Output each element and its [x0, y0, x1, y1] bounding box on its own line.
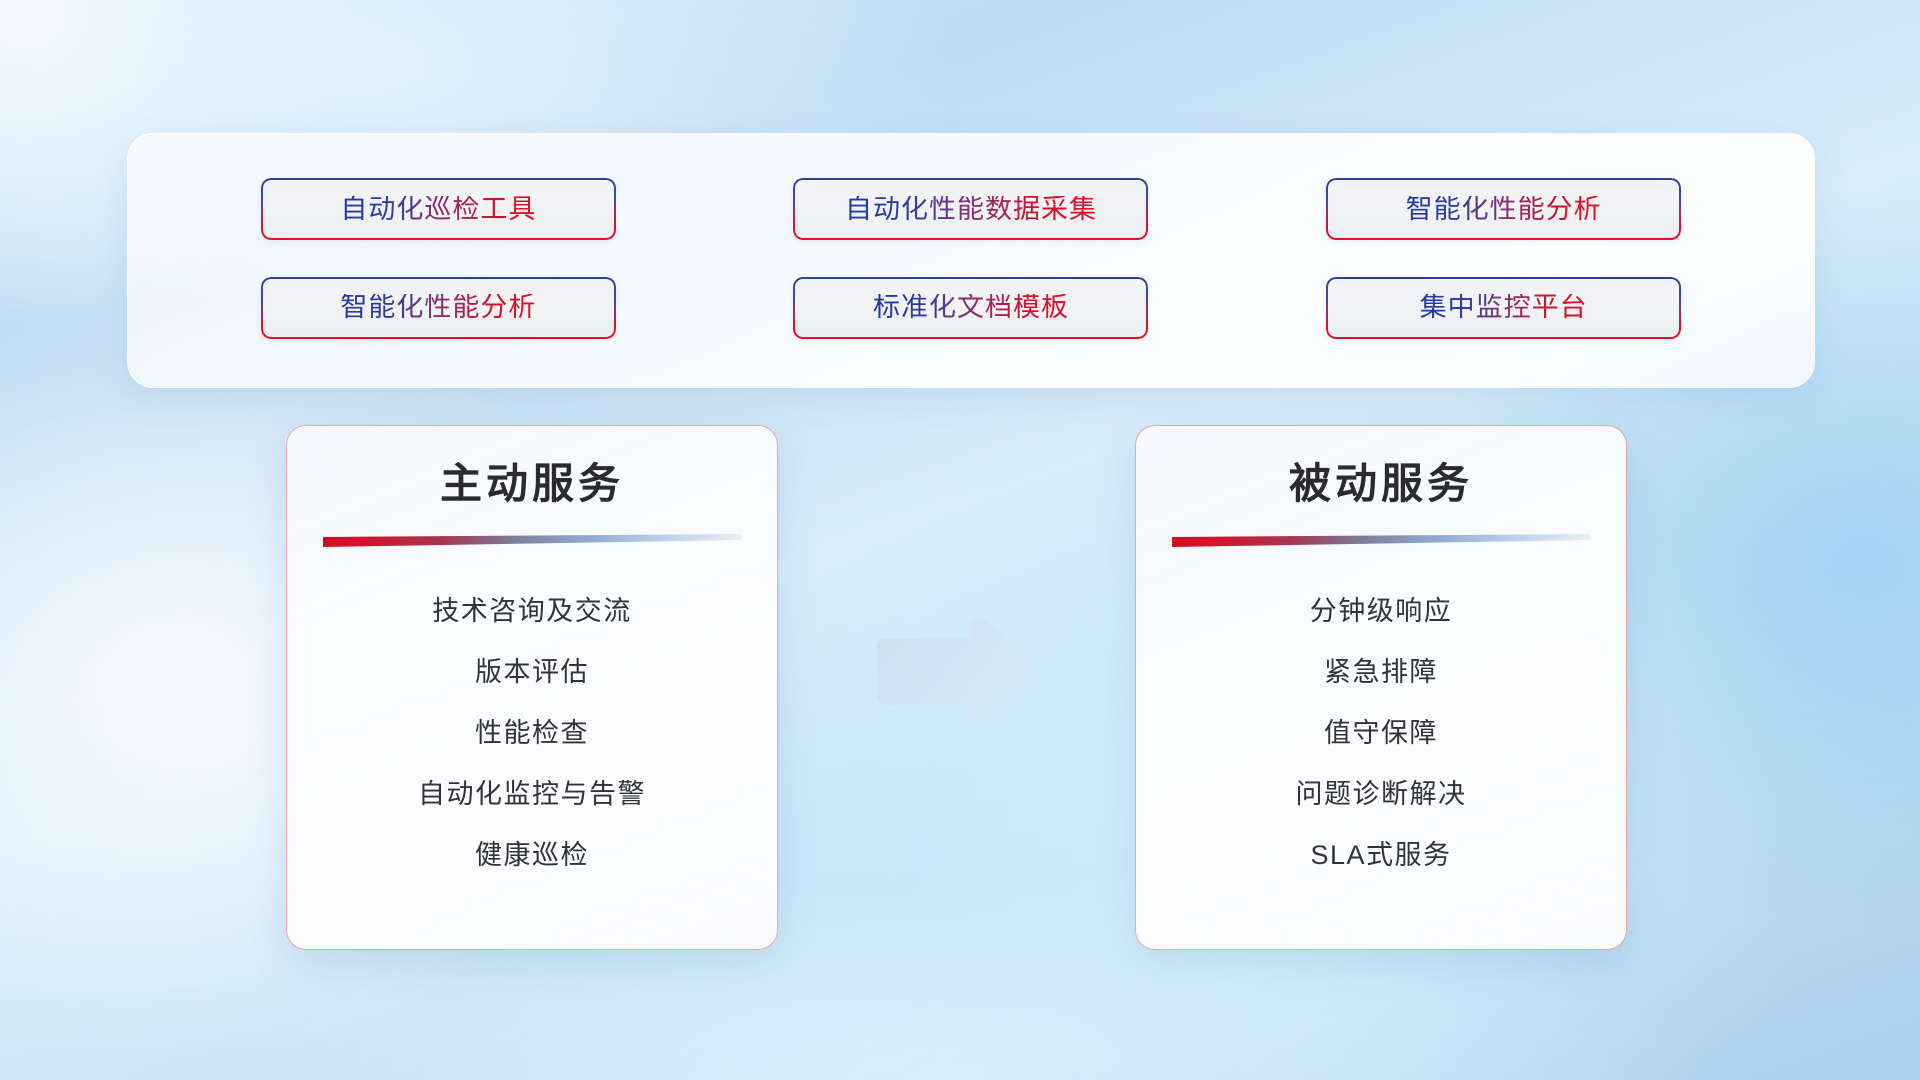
capability-chip-standardized-document-template[interactable]: 标准化文档模板	[793, 277, 1148, 339]
chip-label: 集中监控平台	[1420, 294, 1588, 321]
chip-label: 自动化性能数据采集	[845, 196, 1097, 223]
list-item: 问题诊断解决	[1166, 764, 1596, 825]
capability-chip-automated-performance-data-collection[interactable]: 自动化性能数据采集	[793, 178, 1148, 240]
card-title: 被动服务	[1166, 460, 1596, 507]
list-item: SLA式服务	[1166, 825, 1596, 886]
capability-chip-centralized-monitoring-platform[interactable]: 集中监控平台	[1326, 277, 1681, 339]
card-title: 主动服务	[317, 460, 747, 507]
title-divider	[1172, 534, 1590, 547]
chip-label: 智能化性能分析	[340, 294, 536, 321]
right-arrow-icon	[873, 614, 1040, 729]
capability-chip-intelligent-performance-analysis-1[interactable]: 智能化性能分析	[1326, 178, 1681, 240]
title-divider	[323, 534, 741, 547]
service-item-list: 技术咨询及交流 版本评估 性能检查 自动化监控与告警 健康巡检	[317, 581, 747, 886]
service-item-list: 分钟级响应 紧急排障 值守保障 问题诊断解决 SLA式服务	[1166, 581, 1596, 886]
capability-chip-intelligent-performance-analysis-2[interactable]: 智能化性能分析	[261, 277, 616, 339]
list-item: 紧急排障	[1166, 642, 1596, 703]
chip-label: 自动化巡检工具	[340, 196, 536, 223]
list-item: 技术咨询及交流	[317, 581, 747, 642]
capability-chip-automated-inspection-tool[interactable]: 自动化巡检工具	[261, 178, 616, 240]
chip-label: 标准化文档模板	[873, 294, 1069, 321]
capability-panel: 自动化巡检工具 自动化性能数据采集 智能化性能分析 智能化性能分析 标准化文档模…	[127, 133, 1815, 388]
diagram-canvas: 自动化巡检工具 自动化性能数据采集 智能化性能分析 智能化性能分析 标准化文档模…	[0, 0, 1920, 1080]
list-item: 值守保障	[1166, 703, 1596, 764]
chip-label: 智能化性能分析	[1406, 196, 1602, 223]
list-item: 分钟级响应	[1166, 581, 1596, 642]
list-item: 自动化监控与告警	[317, 764, 747, 825]
list-item: 健康巡检	[317, 825, 747, 886]
list-item: 版本评估	[317, 642, 747, 703]
service-card-reactive: 被动服务 分钟级响应 紧急排障	[1135, 425, 1627, 950]
service-card-proactive: 主动服务 技术咨询及交流 版本评估	[286, 425, 778, 950]
list-item: 性能检查	[317, 703, 747, 764]
